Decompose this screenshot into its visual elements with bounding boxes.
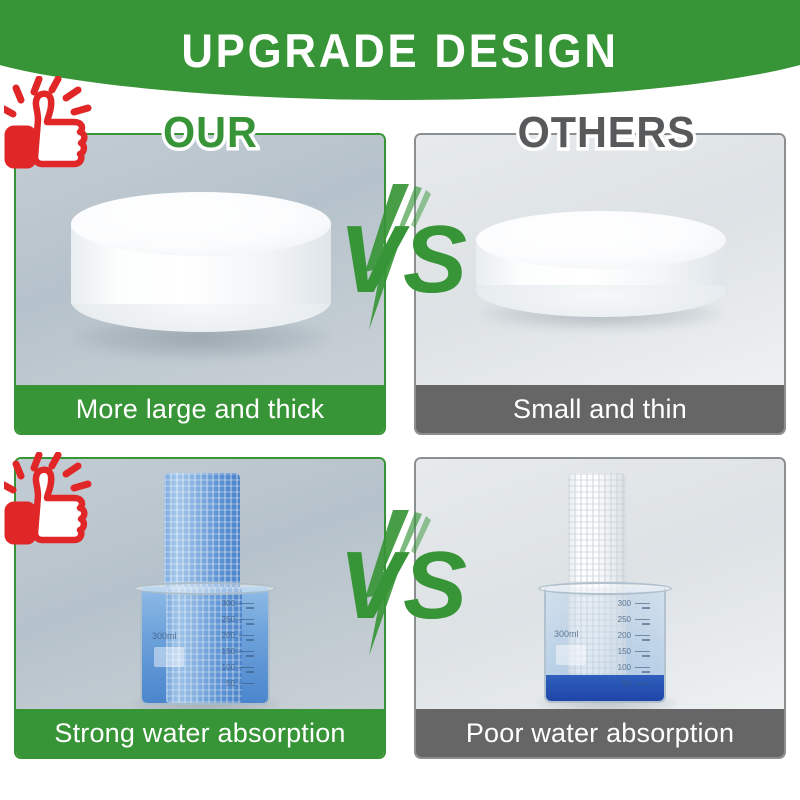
- graduation-tick-minor: [246, 655, 254, 657]
- product-image-white-roll-beaker: 300ml 300 250 200 150 100 50: [528, 469, 688, 709]
- disc-top-face: [476, 211, 726, 269]
- graduation-tick-minor: [246, 623, 254, 625]
- graduation-tick-minor: [246, 607, 254, 609]
- graduation-tick: [635, 683, 650, 685]
- thumbs-up-icon: [4, 452, 108, 568]
- graduation-tick-minor: [642, 607, 650, 609]
- caption-our-thickness: More large and thick: [16, 385, 384, 433]
- header-banner: UPGRADE DESIGN: [0, 0, 800, 100]
- graduation-tick-minor: [642, 639, 650, 641]
- graduation-label-200: 200: [618, 631, 631, 640]
- graduation-tick: [635, 619, 650, 621]
- caption-our-absorption: Strong water absorption: [16, 709, 384, 757]
- graduation-tick: [239, 651, 254, 653]
- graduation-tick: [239, 619, 254, 621]
- product-image-blue-roll-beaker: 300ml 300 250 200 150 100 50: [126, 469, 286, 709]
- beaker-capacity-label: 300ml: [554, 629, 579, 639]
- graduation-label-100: 100: [618, 663, 631, 672]
- beaker-capacity-label: 300ml: [152, 631, 177, 641]
- graduation-label-50: 50: [226, 679, 235, 688]
- graduation-label-250: 250: [222, 615, 235, 624]
- graduation-tick: [635, 651, 650, 653]
- graduation-label-150: 150: [618, 647, 631, 656]
- graduation-tick-minor: [642, 623, 650, 625]
- beaker-rim-left: [134, 582, 276, 595]
- disc-top-face: [71, 192, 331, 256]
- graduation-tick: [635, 603, 650, 605]
- beaker-graduations: 300 250 200 150 100 50: [598, 599, 650, 695]
- panel-stage-others-thickness: [416, 135, 784, 385]
- label-our: OUR: [163, 108, 258, 158]
- graduation-tick: [239, 683, 254, 685]
- page-title: UPGRADE DESIGN: [0, 23, 800, 78]
- graduation-tick: [635, 635, 650, 637]
- thumbs-up-hand: [7, 94, 84, 166]
- graduation-label-300: 300: [618, 599, 631, 608]
- graduation-label-200: 200: [222, 631, 235, 640]
- label-others: OTHERS: [518, 108, 696, 158]
- graduation-label-100: 100: [222, 663, 235, 672]
- beaker-frosted-label-box: [154, 647, 184, 667]
- caption-others-absorption: Poor water absorption: [416, 709, 784, 757]
- beaker-right: 300ml 300 250 200 150 100 50: [544, 587, 666, 703]
- panel-stage-others-absorption: 300ml 300 250 200 150 100 50: [416, 459, 784, 709]
- graduation-tick: [635, 667, 650, 669]
- infographic-root: UPGRADE DESIGN More large and thick Sm: [0, 0, 800, 800]
- graduation-tick: [239, 603, 254, 605]
- beaker-graduations: 300 250 200 150 100 50: [202, 599, 254, 697]
- roll-white-upper: [568, 473, 626, 595]
- product-image-thick-disc: [71, 190, 331, 360]
- graduation-tick: [239, 635, 254, 637]
- panel-others-thickness: Small and thin: [414, 133, 786, 435]
- graduation-tick: [239, 667, 254, 669]
- beaker-rim-right: [538, 582, 672, 595]
- graduation-label-50: 50: [622, 679, 631, 688]
- graduation-tick-minor: [642, 655, 650, 657]
- beaker-frosted-label-box: [556, 645, 586, 665]
- product-image-thin-disc: [476, 211, 726, 331]
- roll-blue-upper: [164, 473, 240, 595]
- beaker-left: 300ml 300 250 200 150 100 50: [140, 587, 270, 705]
- graduation-tick-minor: [246, 671, 254, 673]
- graduation-label-300: 300: [222, 599, 235, 608]
- thumbs-up-hand: [7, 470, 84, 542]
- panel-others-absorption: 300ml 300 250 200 150 100 50: [414, 457, 786, 759]
- graduation-label-150: 150: [222, 647, 235, 656]
- caption-others-thickness: Small and thin: [416, 385, 784, 433]
- thumbs-up-icon: [4, 76, 108, 192]
- graduation-tick-minor: [642, 671, 650, 673]
- graduation-label-250: 250: [618, 615, 631, 624]
- graduation-tick-minor: [246, 639, 254, 641]
